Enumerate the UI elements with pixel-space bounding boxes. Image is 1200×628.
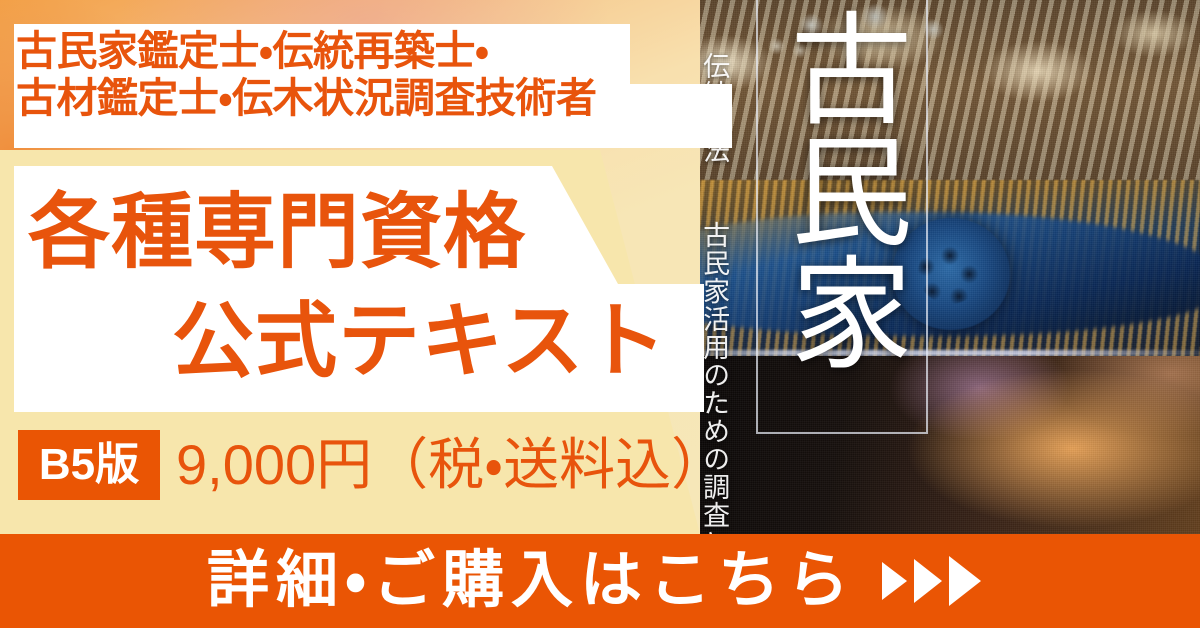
headline-line-2: 公式テキスト (12, 287, 692, 396)
headline-text: 各種専門資格 公式テキスト (12, 178, 692, 396)
chevron-right-icon-1 (882, 562, 907, 600)
chevron-right-icon-2 (914, 559, 942, 603)
qualifications-line-2: 古材鑑定士・伝木状況調査技術者 (16, 75, 596, 122)
cta-inner[interactable]: 詳細・ご購入はこちら (207, 550, 981, 612)
promo-banner: 古民家 伝統構法 古民家活用のための調査と再生の 古民家鑑定士・伝統再築士・ 古… (0, 0, 1200, 628)
qualifications-line-1: 古民家鑑定士・伝統再築士・ (16, 28, 488, 74)
cta-bar[interactable]: 詳細・ご購入はこちら (0, 534, 1200, 628)
format-badge-label: B5版 (18, 430, 160, 500)
format-badge: B5版 (18, 430, 160, 500)
price-label: 9,000円（税・送料込） (176, 432, 727, 498)
book-cover-title: 古民家 (770, 6, 910, 372)
cta-label: 詳細・ご購入はこちら (207, 550, 856, 612)
qualifications-text: 古民家鑑定士・伝統再築士・ 古材鑑定士・伝木状況調査技術者 (16, 28, 596, 121)
chevron-right-icon-3 (949, 556, 981, 606)
headline-line-1: 各種専門資格 (12, 178, 692, 287)
cta-arrows (882, 556, 981, 606)
